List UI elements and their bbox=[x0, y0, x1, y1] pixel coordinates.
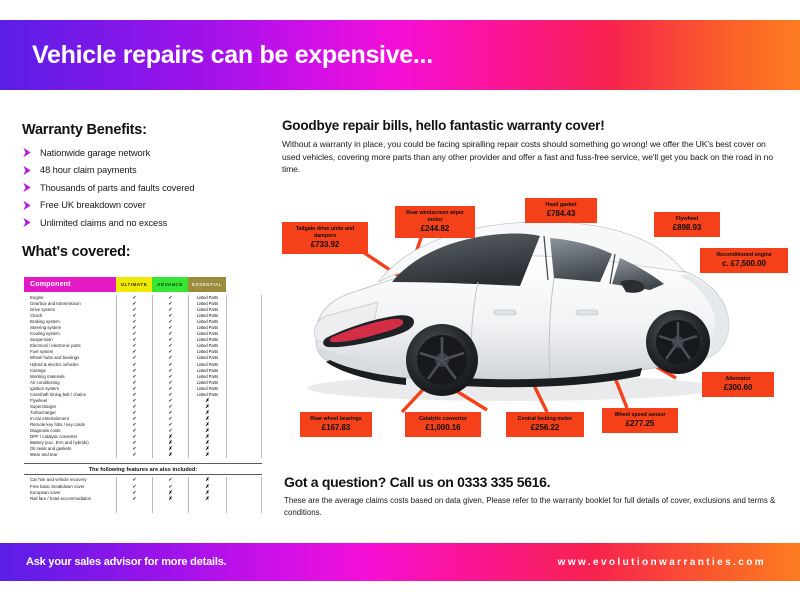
header-banner: Vehicle repairs can be expensive... bbox=[0, 20, 800, 90]
cost-callout: Rear wheel bearings£167.83 bbox=[300, 412, 372, 437]
callout-label: Central locking motor bbox=[518, 416, 573, 422]
extras-body: Car hire and vehicle recoveryFree basic … bbox=[24, 475, 262, 513]
callout-label: Wheel speed sensor bbox=[614, 412, 665, 418]
callout-amount: £277.25 bbox=[608, 419, 672, 429]
callout-amount: £256.22 bbox=[512, 423, 578, 433]
table-col-component: Component bbox=[24, 277, 116, 292]
warranty-benefits-title: Warranty Benefits: bbox=[22, 122, 267, 138]
table-col-essential: ESSENTIAL bbox=[188, 277, 226, 292]
arrow-bullet-icon bbox=[22, 200, 33, 211]
cost-callout: Flywheel£898.93 bbox=[654, 212, 720, 237]
table-col-ultimate: ULTIMATE bbox=[116, 277, 152, 292]
arrow-bullet-icon bbox=[22, 147, 33, 158]
benefit-item: Unlimited claims and no excess bbox=[22, 217, 267, 228]
cost-callout: Central locking motor£256.22 bbox=[506, 412, 584, 437]
benefits-list: Nationwide garage network48 hour claim p… bbox=[22, 147, 267, 228]
cost-callout: Catalytic convertor£1,000.16 bbox=[405, 412, 481, 437]
right-column: Goodbye repair bills, hello fantastic wa… bbox=[282, 118, 782, 176]
poster-page: Vehicle repairs can be expensive... Warr… bbox=[0, 0, 800, 600]
table-body: EngineGearbox and transmissionDrive syst… bbox=[24, 292, 262, 458]
cost-callout: Alternator£300.60 bbox=[702, 372, 774, 397]
table-header-row: Component ULTIMATE ADVANCE ESSENTIAL bbox=[24, 277, 262, 292]
benefit-item: 48 hour claim payments bbox=[22, 165, 267, 176]
benefit-label: 48 hour claim payments bbox=[40, 165, 137, 175]
rear-wheel bbox=[406, 324, 478, 396]
callout-amount: £1,000.16 bbox=[411, 423, 475, 433]
cross-icon: ✗ bbox=[189, 452, 226, 458]
callout-amount: £784.43 bbox=[531, 209, 591, 219]
table-col-spacer bbox=[226, 277, 262, 292]
benefit-item: Nationwide garage network bbox=[22, 147, 267, 158]
benefit-label: Unlimited claims and no excess bbox=[40, 218, 167, 228]
right-paragraph: Without a warranty in place, you could b… bbox=[282, 138, 782, 176]
extras-names: Car hire and vehicle recoveryFree basic … bbox=[24, 477, 116, 513]
callout-label: Catalytic convertor bbox=[419, 416, 467, 422]
callout-amount: £300.60 bbox=[708, 383, 768, 393]
extras-spacer-column bbox=[226, 477, 262, 513]
cross-icon: ✗ bbox=[153, 496, 188, 502]
footer-banner: Ask your sales advisor for more details.… bbox=[0, 543, 800, 581]
car-diagram: Tailgate drive units and dampers£733.92R… bbox=[282, 190, 792, 475]
cta-block: Got a question? Call us on 0333 335 5616… bbox=[284, 474, 784, 518]
footer-message: Ask your sales advisor for more details. bbox=[26, 556, 226, 568]
arrow-bullet-icon bbox=[22, 182, 33, 193]
benefit-item: Free UK breakdown cover bbox=[22, 200, 267, 211]
cost-callout: Rear windscreen wiper motor£244.82 bbox=[395, 206, 475, 238]
check-icon: ✓ bbox=[117, 452, 152, 458]
extras-essential-marks: ✗✗✗✗ bbox=[188, 477, 226, 513]
callout-label: Rear wheel bearings bbox=[310, 416, 361, 422]
whats-covered-title: What's covered: bbox=[22, 244, 267, 260]
check-icon: ✓ bbox=[117, 496, 152, 502]
front-wheel bbox=[646, 310, 710, 374]
coverage-table: Component ULTIMATE ADVANCE ESSENTIAL Eng… bbox=[24, 277, 262, 513]
extras-ultimate-marks: ✓✓✓✓ bbox=[116, 477, 152, 513]
cross-icon: ✗ bbox=[189, 496, 226, 502]
table-ultimate-marks: ✓✓✓✓✓✓✓✓✓✓✓✓✓✓✓✓✓✓✓✓✓✓✓✓✓✓✓ bbox=[116, 295, 152, 458]
page-title: Vehicle repairs can be expensive... bbox=[0, 41, 433, 70]
cost-callout: Head gasket£784.43 bbox=[525, 198, 597, 223]
callout-amount: £898.93 bbox=[660, 223, 714, 233]
table-spacer-column bbox=[226, 295, 262, 458]
cta-disclaimer: These are the average claims costs based… bbox=[284, 495, 784, 518]
table-component-names: EngineGearbox and transmissionDrive syst… bbox=[24, 295, 116, 458]
benefit-label: Nationwide garage network bbox=[40, 148, 150, 158]
cta-phone-heading: Got a question? Call us on 0333 335 5616… bbox=[284, 474, 784, 490]
left-column: Warranty Benefits: Nationwide garage net… bbox=[22, 122, 267, 260]
callout-amount: £733.92 bbox=[288, 240, 362, 250]
benefit-label: Free UK breakdown cover bbox=[40, 200, 146, 210]
callout-amount: £244.82 bbox=[401, 224, 469, 234]
table-col-advance: ADVANCE bbox=[152, 277, 188, 292]
callout-label: Tailgate drive units and dampers bbox=[296, 226, 355, 239]
cost-callout: Reconditioned enginec. £7,500.00 bbox=[700, 248, 788, 273]
extras-title: The following features are also included… bbox=[24, 464, 262, 475]
callout-amount: £167.83 bbox=[306, 423, 366, 433]
benefit-label: Thousands of parts and faults covered bbox=[40, 183, 194, 193]
cost-callout: Tailgate drive units and dampers£733.92 bbox=[282, 222, 368, 254]
table-essential-marks: Listed PartsListed PartsListed PartsList… bbox=[188, 295, 226, 458]
cost-callout: Wheel speed sensor£277.25 bbox=[602, 408, 678, 433]
footer-website[interactable]: www.evolutionwarranties.com bbox=[558, 557, 766, 568]
callout-label: Flywheel bbox=[676, 216, 698, 222]
table-row-label: Rail fare / hotel accommodation bbox=[24, 496, 116, 502]
benefit-item: Thousands of parts and faults covered bbox=[22, 182, 267, 193]
table-advance-marks: ✓✓✓✓✓✓✓✓✓✓✓✓✓✓✓✓✓✓✓✓✓✓✓✗✗✗✗ bbox=[152, 295, 188, 458]
cross-icon: ✗ bbox=[153, 452, 188, 458]
arrow-bullet-icon bbox=[22, 165, 33, 176]
callout-label: Head gasket bbox=[545, 202, 576, 208]
right-headline: Goodbye repair bills, hello fantastic wa… bbox=[282, 118, 782, 133]
extras-advance-marks: ✓✓✗✗ bbox=[152, 477, 188, 513]
callout-amount: c. £7,500.00 bbox=[706, 259, 782, 269]
arrow-bullet-icon bbox=[22, 217, 33, 228]
table-row-label: Wear and tear bbox=[24, 452, 116, 458]
callout-label: Rear windscreen wiper motor bbox=[406, 210, 464, 223]
callout-label: Reconditioned engine bbox=[716, 252, 771, 258]
callout-label: Alternator bbox=[725, 376, 750, 382]
